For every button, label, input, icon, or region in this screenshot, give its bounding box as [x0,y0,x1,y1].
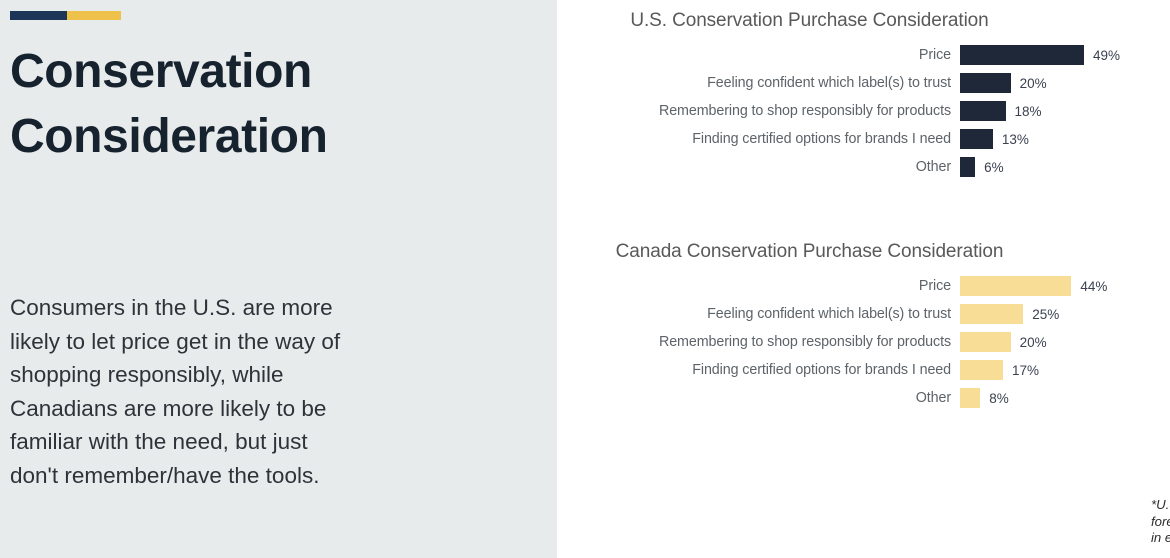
chart-bar-row: Other6% [557,153,1170,181]
bar-value-label: 8% [989,391,1009,406]
chart-bar-rows: Price44%Feeling confident which label(s)… [557,272,1170,412]
chart-bar-row: Remembering to shop responsibly for prod… [557,97,1170,125]
bar-category-label: Finding certified options for brands I n… [557,131,960,147]
body-copy-line-6: don't remember/have the tools. [10,459,440,493]
bar-and-value: 8% [960,388,1009,408]
accent-rule-navy-segment [10,11,67,20]
bar-category-label: Price [557,278,960,294]
bar-and-value: 20% [960,332,1047,352]
bar-value-label: 44% [1080,279,1107,294]
body-copy-line-5: familiar with the need, but just [10,425,440,459]
bar-and-value: 18% [960,101,1042,121]
chart-bar-row: Finding certified options for brands I n… [557,356,1170,384]
bar [960,332,1011,352]
bar-and-value: 17% [960,360,1039,380]
body-copy-line-2: likely to let price get in the way of [10,325,440,359]
chart-canada-conservation-purchase-consideration: Canada Conservation Purchase Considerati… [557,241,1170,412]
accent-rule [10,11,121,20]
left-content-panel: Conservation Consideration Consumers in … [0,0,557,558]
bar-category-label: Other [557,390,960,406]
bar-and-value: 25% [960,304,1059,324]
chart-bar-row: Remembering to shop responsibly for prod… [557,328,1170,356]
bar-value-label: 6% [984,160,1004,175]
source-footnote-line-1: *U.S. and Canadian Internet users. Aided… [1151,497,1170,514]
bar-value-label: 25% [1032,307,1059,322]
bar-and-value: 44% [960,276,1107,296]
bar [960,360,1003,380]
chart-bar-row: Other8% [557,384,1170,412]
bar-category-label: Finding certified options for brands I n… [557,362,960,378]
chart-bar-row: Price44% [557,272,1170,300]
source-footnote-line-2: forest conservation study, United States… [1151,514,1170,531]
chart-bar-row: Feeling confident which label(s) to trus… [557,300,1170,328]
source-footnote: *U.S. and Canadian Internet users. Aided… [1151,497,1170,547]
bar-category-label: Other [557,159,960,175]
chart-title: Canada Conservation Purchase Considerati… [557,241,1170,263]
bar-value-label: 20% [1020,76,1047,91]
bar-and-value: 13% [960,129,1029,149]
bar-value-label: 13% [1002,132,1029,147]
charts-panel: U.S. Conservation Purchase Consideration… [557,0,1170,558]
body-copy: Consumers in the U.S. are more likely to… [10,291,440,492]
bar-category-label: Feeling confident which label(s) to trus… [557,306,960,322]
chart-bar-row: Finding certified options for brands I n… [557,125,1170,153]
bar-value-label: 20% [1020,335,1047,350]
bar-value-label: 49% [1093,48,1120,63]
bar-and-value: 20% [960,73,1047,93]
bar-category-label: Feeling confident which label(s) to trus… [557,75,960,91]
chart-title: U.S. Conservation Purchase Consideration [557,10,1170,32]
bar-and-value: 49% [960,45,1120,65]
accent-rule-gold-segment [67,11,121,20]
bar-value-label: 18% [1015,104,1042,119]
source-footnote-line-3: in each country, 95% confidence. [1151,530,1170,547]
bar [960,388,980,408]
body-copy-line-4: Canadians are more likely to be [10,392,440,426]
page-title-line-1: Conservation [10,40,530,105]
bar-category-label: Remembering to shop responsibly for prod… [557,334,960,350]
bar-category-label: Price [557,47,960,63]
bar [960,73,1011,93]
chart-bar-row: Feeling confident which label(s) to trus… [557,69,1170,97]
bar-category-label: Remembering to shop responsibly for prod… [557,103,960,119]
bar-and-value: 6% [960,157,1004,177]
bar [960,304,1023,324]
bar [960,101,1006,121]
body-copy-line-1: Consumers in the U.S. are more [10,291,440,325]
chart-bar-rows: Price49%Feeling confident which label(s)… [557,41,1170,181]
bar [960,129,993,149]
body-copy-line-3: shopping responsibly, while [10,358,440,392]
page-title: Conservation Consideration [10,40,530,170]
chart-bar-row: Price49% [557,41,1170,69]
page-title-line-2: Consideration [10,105,530,170]
bar [960,45,1084,65]
bar [960,276,1071,296]
bar-value-label: 17% [1012,363,1039,378]
chart-us-conservation-purchase-consideration: U.S. Conservation Purchase Consideration… [557,10,1170,181]
bar [960,157,975,177]
